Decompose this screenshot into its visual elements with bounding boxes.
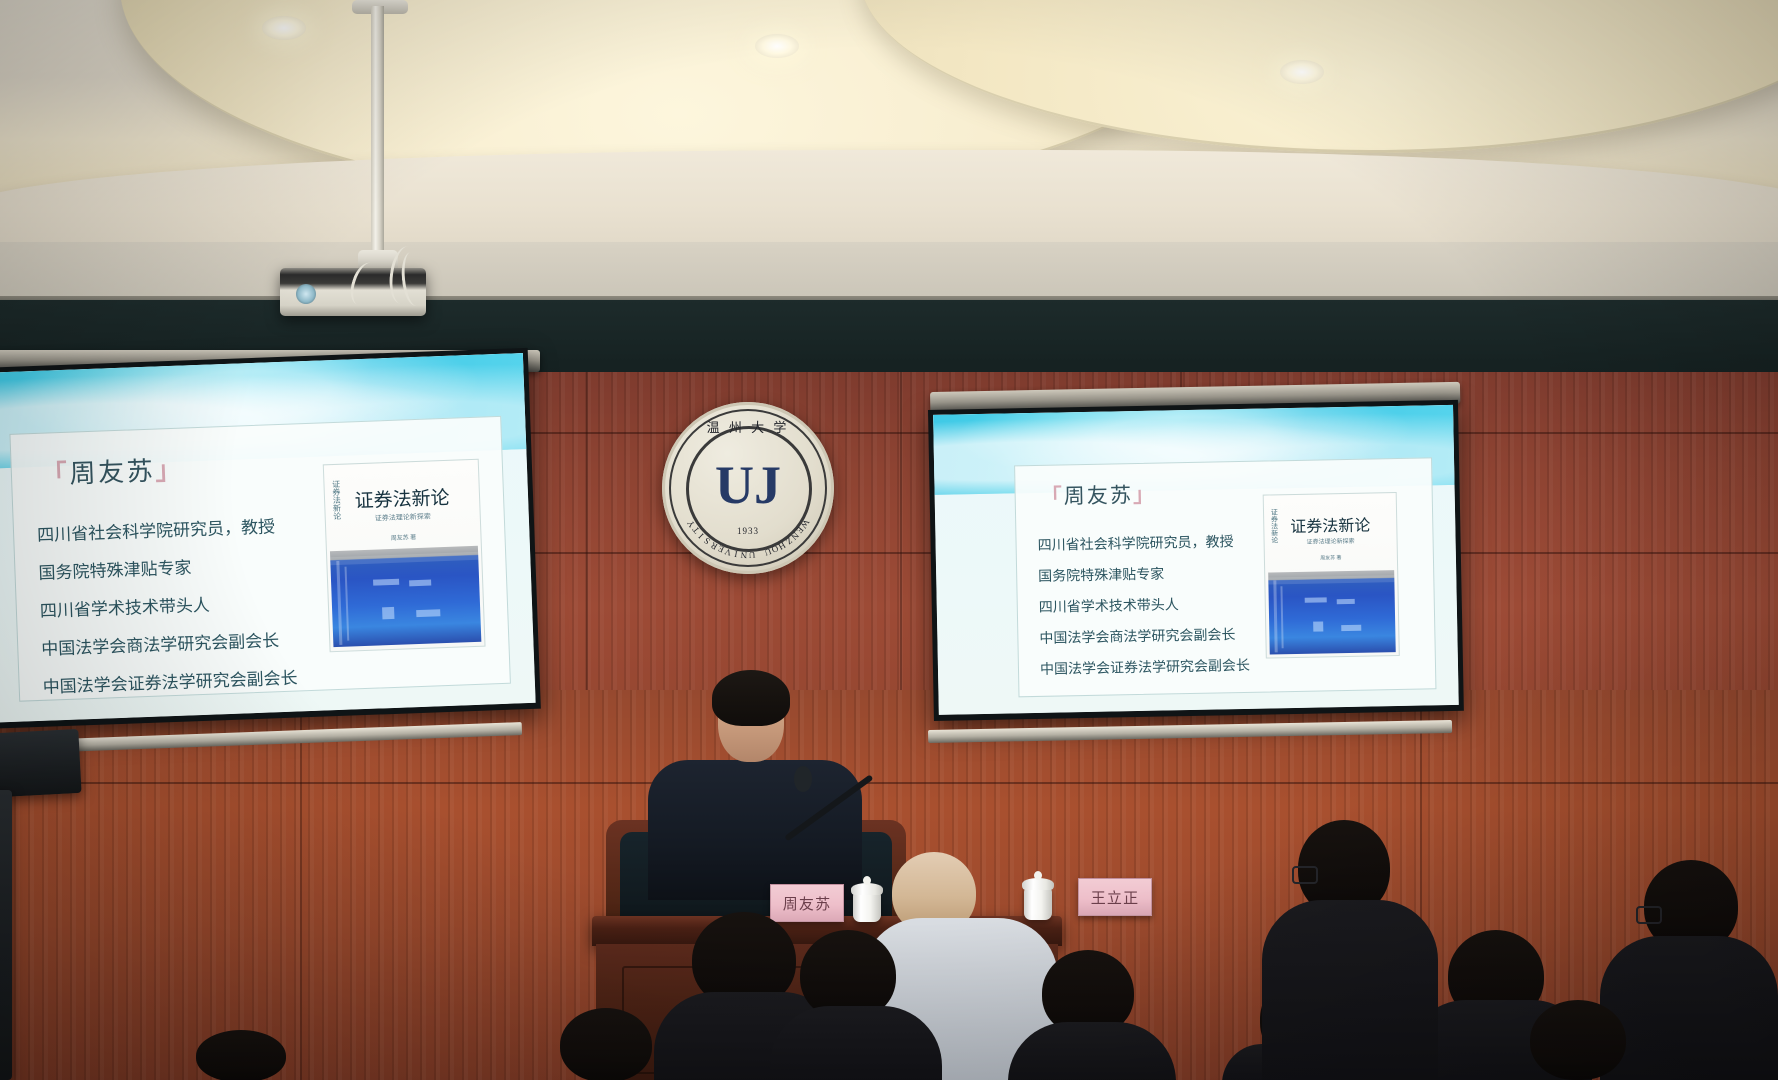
left-projection-screen: 「周友苏」 四川省社会科学院研究员，教授 国务院特殊津贴专家 四川省学术技术带头…	[0, 348, 541, 729]
audience-shoulders-2	[770, 1006, 942, 1080]
audience-shoulders-7	[1600, 936, 1778, 1080]
book-subtitle: 证券法理论新探索	[1265, 535, 1397, 547]
right-slide-bullets: 四川省社会科学院研究员，教授 国务院特殊津贴专家 四川省学术技术带头人 中国法学…	[1037, 527, 1250, 686]
right-slide-book-cover: 证券法新论 证券法新论 证券法理论新探索 周友苏 著	[1263, 492, 1400, 659]
teacup-2	[1024, 888, 1052, 920]
book-author-line: 周友苏 著	[326, 530, 480, 545]
bracket-right-icon: 」	[155, 456, 185, 486]
emblem-arc-char: V	[724, 546, 733, 557]
left-slide-speaker-name: 「周友苏」	[40, 450, 184, 492]
side-lectern-post	[0, 790, 12, 1080]
emblem-arc-char: U	[748, 550, 755, 560]
speaker-body	[648, 760, 862, 900]
bullet-4: 中国法学会商法学研究会副会长	[1039, 620, 1250, 655]
speaker-name-text: 周友苏	[69, 457, 156, 489]
projector-pole	[371, 6, 384, 256]
emblem-arc-char	[758, 549, 762, 559]
bracket-left-icon: 「	[1040, 484, 1064, 508]
book-title: 证券法新论	[325, 482, 480, 515]
book-cover-photo	[330, 546, 481, 647]
side-lectern	[0, 729, 82, 799]
right-slide: 「周友苏」 四川省社会科学院研究员，教授 国务院特殊津贴专家 四川省学术技术带头…	[933, 405, 1459, 715]
nameplate-speaker: 周友苏	[770, 884, 844, 922]
left-slide-book-cover: 证券法新论 证券法新论 证券法理论新探索 周友苏 著	[323, 459, 486, 653]
audience-head-9	[560, 1008, 652, 1080]
book-title: 证券法新论	[1264, 511, 1396, 538]
bullet-3: 四川省学术技术带头人	[1039, 589, 1250, 624]
nameplate-host: 王立正	[1078, 878, 1152, 916]
bullet-5: 中国法学会证券法学研究会副会长	[42, 660, 298, 707]
eyeglasses-icon-2	[1636, 906, 1662, 924]
audience-shoulders-6	[1262, 900, 1438, 1080]
emblem-arc-char: I	[734, 549, 739, 559]
bracket-right-icon: 」	[1133, 483, 1157, 507]
bullet-2: 国务院特殊津贴专家	[1038, 558, 1249, 593]
teacup-2-knob	[1034, 871, 1042, 880]
projector-lens	[296, 284, 316, 304]
emblem-english-arc: WENZHOU UNIVERSITY	[662, 402, 834, 574]
downlight-1	[262, 16, 306, 40]
book-author-line: 周友苏 著	[1265, 553, 1397, 563]
book-cover-photo	[1268, 570, 1396, 654]
nameplate-host-text: 王立正	[1091, 887, 1140, 908]
nameplate-speaker-text: 周友苏	[783, 893, 832, 914]
bullet-5: 中国法学会证券法学研究会副会长	[1040, 651, 1251, 686]
right-projection-screen: 「周友苏」 四川省社会科学院研究员，教授 国务院特殊津贴专家 四川省学术技术带头…	[928, 400, 1464, 721]
wenzhou-university-emblem: 温 州 大 学 UJ 1933 WENZHOU UNIVERSITY WENZH…	[662, 402, 834, 574]
teacup-1-knob	[863, 876, 871, 885]
audience-head-8	[1530, 1000, 1626, 1080]
left-slide-bullets: 四川省社会科学院研究员，教授 国务院特殊津贴专家 四川省学术技术带头人 中国法学…	[36, 508, 298, 707]
teacup-1	[853, 892, 881, 922]
eyeglasses-icon	[1292, 866, 1318, 884]
right-slide-speaker-name: 「周友苏」	[1040, 479, 1156, 511]
audience-head-10	[196, 1030, 286, 1080]
emblem-arc-char: N	[740, 550, 747, 560]
lecture-hall-photo: 「周友苏」 四川省社会科学院研究员，教授 国务院特殊津贴专家 四川省学术技术带头…	[0, 0, 1778, 1080]
microphone-head	[794, 766, 812, 792]
downlight-3	[1280, 60, 1324, 84]
bullet-1: 四川省社会科学院研究员，教授	[1037, 527, 1248, 562]
speaker-hair	[712, 670, 790, 726]
downlight-2	[755, 34, 799, 58]
speaker-name-text: 周友苏	[1064, 483, 1134, 508]
bracket-left-icon: 「	[40, 460, 70, 490]
left-slide: 「周友苏」 四川省社会科学院研究员，教授 国务院特殊津贴专家 四川省学术技术带头…	[0, 353, 536, 723]
